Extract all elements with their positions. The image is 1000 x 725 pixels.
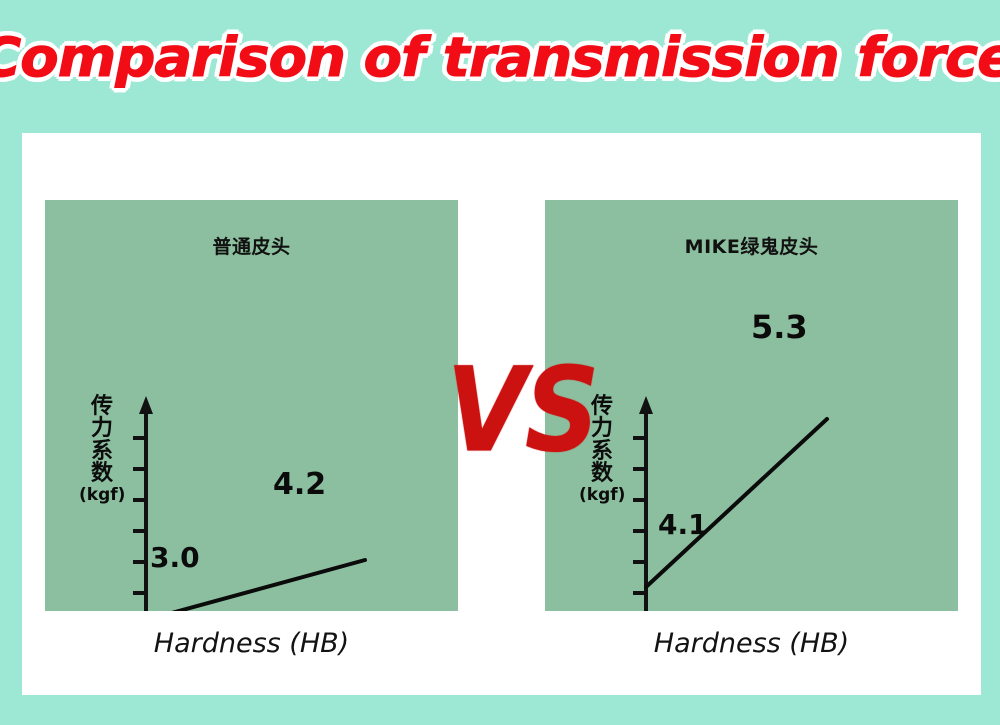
versus-label: VS (412, 352, 632, 468)
content-card: 普通皮头 (22, 133, 981, 695)
data-label-left-end: 4.2 (273, 467, 326, 502)
y-axis-label-left-unit: (kgf) (79, 487, 123, 504)
poster-canvas: Comparison of transmission force values … (0, 0, 1000, 725)
y-axis-label-left: 传力系数 (kgf) (81, 396, 123, 504)
y-axis-label-right-unit: (kgf) (579, 487, 623, 504)
data-label-left-start: 3.0 (150, 541, 200, 574)
title-band: Comparison of transmission force values (0, 0, 1000, 124)
data-label-right-end: 5.3 (751, 308, 808, 346)
x-axis-caption-left: Hardness (HB) (45, 628, 458, 659)
y-axis-label-left-cjk: 传力系数 (81, 396, 123, 486)
chart-panel-ordinary-tip: 普通皮头 (45, 200, 458, 611)
data-label-right-start: 4.1 (658, 508, 708, 541)
page-title: Comparison of transmission force values (0, 26, 1000, 90)
x-axis-caption-right: Hardness (HB) (545, 628, 958, 659)
